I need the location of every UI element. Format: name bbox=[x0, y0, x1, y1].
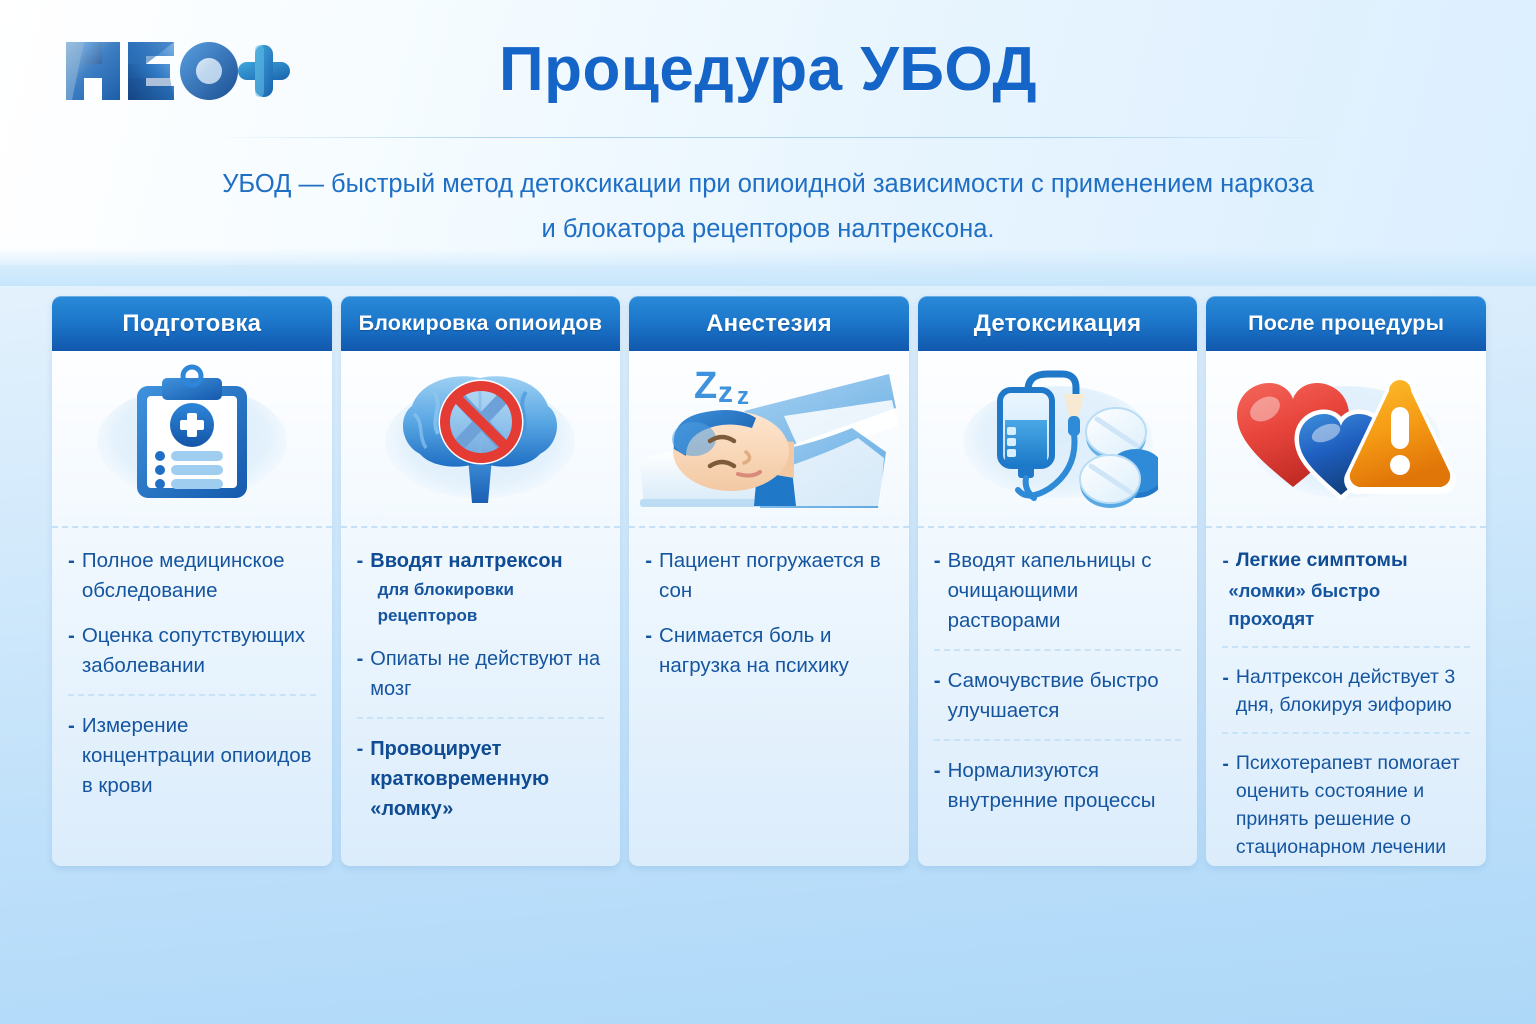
step-title: Анестезия bbox=[706, 310, 832, 338]
bullet-group: - Снимается боль и нагрузка на психику bbox=[645, 621, 893, 681]
sleeping-patient-icon: Z z z bbox=[634, 356, 904, 521]
bullet-dash-icon: - bbox=[357, 734, 364, 764]
bullet-group: - Нормализуются внутренние процессы bbox=[934, 739, 1182, 816]
bullet-dash-icon: - bbox=[357, 644, 364, 674]
bullet-dash-icon: - bbox=[934, 756, 941, 786]
bullet-text: Вводят налтрексон bbox=[370, 546, 604, 576]
step-icon-area bbox=[341, 351, 621, 526]
bullet-group: - Провоцирует кратковременную «ломку» bbox=[357, 717, 605, 824]
brain-prohibited-icon bbox=[390, 366, 570, 511]
bullet-text: Нормализуются внутренние процессы bbox=[948, 756, 1182, 816]
list-item: - Измерение концентрации опиоидов в кров… bbox=[68, 711, 316, 801]
bullet-text: Измерение концентрации опиоидов в крови bbox=[82, 711, 316, 801]
bullet-dash-icon: - bbox=[1222, 749, 1229, 779]
step-icon-area bbox=[52, 351, 332, 526]
bullet-dash-icon: - bbox=[645, 546, 652, 576]
bullet-group: - Пациент погружается в сон bbox=[645, 546, 893, 606]
step-icon-area bbox=[918, 351, 1198, 526]
bullet-text: Вводят капельницы с очищающими растворам… bbox=[948, 546, 1182, 636]
bullet-dash-icon: - bbox=[645, 621, 652, 651]
svg-text:z: z bbox=[718, 376, 733, 409]
bullet-dash-icon: - bbox=[1222, 663, 1229, 693]
subtitle-line-1: УБОД — быстрый метод детоксикации при оп… bbox=[168, 162, 1368, 207]
hearts-warning-icon bbox=[1231, 369, 1461, 509]
bullet-dash-icon: - bbox=[357, 546, 364, 576]
step-header-after-procedure: После процедуры bbox=[1206, 296, 1486, 351]
bullet-group: - Измерение концентрации опиоидов в кров… bbox=[68, 694, 316, 801]
bullet-group: - Вводят налтрексон для блокировки рецеп… bbox=[357, 546, 605, 629]
list-item: - Провоцирует кратковременную «ломку» bbox=[357, 734, 605, 824]
list-item: - Полное медицинское обследование bbox=[68, 546, 316, 606]
bullet-group: - Психотерапевт помогает оценить состоян… bbox=[1222, 732, 1470, 861]
infographic-page: Процедура УБОД УБОД — быстрый метод дето… bbox=[0, 0, 1536, 1024]
list-item: - Снимается боль и нагрузка на психику bbox=[645, 621, 893, 681]
bullet-dash-icon: - bbox=[68, 711, 75, 741]
bullet-text: Оценка сопутствующих заболевании bbox=[82, 621, 316, 681]
step-card-after-procedure[interactable]: После процедуры bbox=[1206, 296, 1486, 866]
bullet-text: Опиаты не действуют на мозг bbox=[370, 644, 604, 704]
step-body-after-procedure: - Легкие симптомы «ломки» быстро проходя… bbox=[1206, 528, 1486, 866]
bullet-subtext: для блокировки рецепторов bbox=[378, 577, 605, 629]
header-divider bbox=[205, 137, 1340, 138]
step-card-detoxification[interactable]: Детоксикация bbox=[918, 296, 1198, 866]
step-card-opioid-blocking[interactable]: Блокировка опиоидов bbox=[341, 296, 621, 866]
step-body-detoxification: - Вводят капельницы с очищающими раствор… bbox=[918, 528, 1198, 866]
bullet-text: Самочувствие быстро улучшается bbox=[948, 666, 1182, 726]
bullet-group: - Полное медицинское обследование bbox=[68, 546, 316, 606]
bullet-text: Пациент погружается в сон bbox=[659, 546, 893, 606]
list-item: - Легкие симптомы bbox=[1222, 546, 1470, 576]
list-item: - Нормализуются внутренние процессы bbox=[934, 756, 1182, 816]
bullet-text: Налтрексон действует 3 дня, блокируя эиф… bbox=[1236, 663, 1470, 719]
bullet-group: - Оценка сопутствующих заболевании bbox=[68, 621, 316, 681]
list-item: - Вводят налтрексон bbox=[357, 546, 605, 576]
iv-drip-pills-icon bbox=[958, 364, 1158, 514]
bullet-group: - Вводят капельницы с очищающими раствор… bbox=[934, 546, 1182, 636]
step-header-anesthesia: Анестезия bbox=[629, 296, 909, 351]
bullet-group: - Налтрексон действует 3 дня, блокируя э… bbox=[1222, 646, 1470, 719]
list-item: - Пациент погружается в сон bbox=[645, 546, 893, 606]
step-card-anesthesia[interactable]: Анестезия bbox=[629, 296, 909, 866]
svg-text:z: z bbox=[737, 383, 749, 410]
list-item: - Оценка сопутствующих заболевании bbox=[68, 621, 316, 681]
step-title: Детоксикация bbox=[974, 310, 1142, 338]
bullet-group: - Самочувствие быстро улучшается bbox=[934, 649, 1182, 726]
step-card-preparation[interactable]: Подготовка bbox=[52, 296, 332, 866]
step-header-preparation: Подготовка bbox=[52, 296, 332, 351]
sleep-zzz-text: Z bbox=[694, 365, 717, 407]
bullet-text: Провоцирует кратковременную «ломку» bbox=[370, 734, 604, 824]
neo-plus-logo bbox=[62, 38, 292, 104]
step-body-opioid-blocking: - Вводят налтрексон для блокировки рецеп… bbox=[341, 528, 621, 866]
step-title: Подготовка bbox=[122, 310, 261, 338]
bullet-subtext: «ломки» быстро проходят bbox=[1228, 577, 1470, 633]
step-body-preparation: - Полное медицинское обследование - Оцен… bbox=[52, 528, 332, 866]
list-item: - Опиаты не действуют на мозг bbox=[357, 644, 605, 704]
list-item: - Вводят капельницы с очищающими раствор… bbox=[934, 546, 1182, 636]
bullet-dash-icon: - bbox=[68, 621, 75, 651]
step-title: После процедуры bbox=[1248, 311, 1444, 336]
step-header-opioid-blocking: Блокировка опиоидов bbox=[341, 296, 621, 351]
bullet-dash-icon: - bbox=[934, 666, 941, 696]
step-header-detoxification: Детоксикация bbox=[918, 296, 1198, 351]
bullet-text: Психотерапевт помогает оценить состояние… bbox=[1236, 749, 1470, 861]
bullet-text: Легкие симптомы bbox=[1236, 546, 1470, 574]
step-body-anesthesia: - Пациент погружается в сон - Снимается … bbox=[629, 528, 909, 866]
bullet-text: Снимается боль и нагрузка на психику bbox=[659, 621, 893, 681]
bullet-group: - Легкие симптомы «ломки» быстро проходя… bbox=[1222, 546, 1470, 633]
step-icon-area bbox=[1206, 351, 1486, 526]
bullet-dash-icon: - bbox=[934, 546, 941, 576]
list-item: - Налтрексон действует 3 дня, блокируя э… bbox=[1222, 663, 1470, 719]
list-item: - Психотерапевт помогает оценить состоян… bbox=[1222, 749, 1470, 861]
step-icon-area: Z z z bbox=[629, 351, 909, 526]
bullet-dash-icon: - bbox=[1222, 546, 1229, 576]
step-title: Блокировка опиоидов bbox=[359, 311, 603, 336]
bullet-dash-icon: - bbox=[68, 546, 75, 576]
bullet-group: - Опиаты не действуют на мозг bbox=[357, 644, 605, 704]
page-subtitle: УБОД — быстрый метод детоксикации при оп… bbox=[168, 162, 1368, 252]
clipboard-medical-icon bbox=[117, 364, 267, 514]
list-item: - Самочувствие быстро улучшается bbox=[934, 666, 1182, 726]
steps-row: Подготовка bbox=[52, 296, 1486, 866]
bullet-text: Полное медицинское обследование bbox=[82, 546, 316, 606]
subtitle-line-2: и блокатора рецепторов налтрексона. bbox=[168, 207, 1368, 252]
